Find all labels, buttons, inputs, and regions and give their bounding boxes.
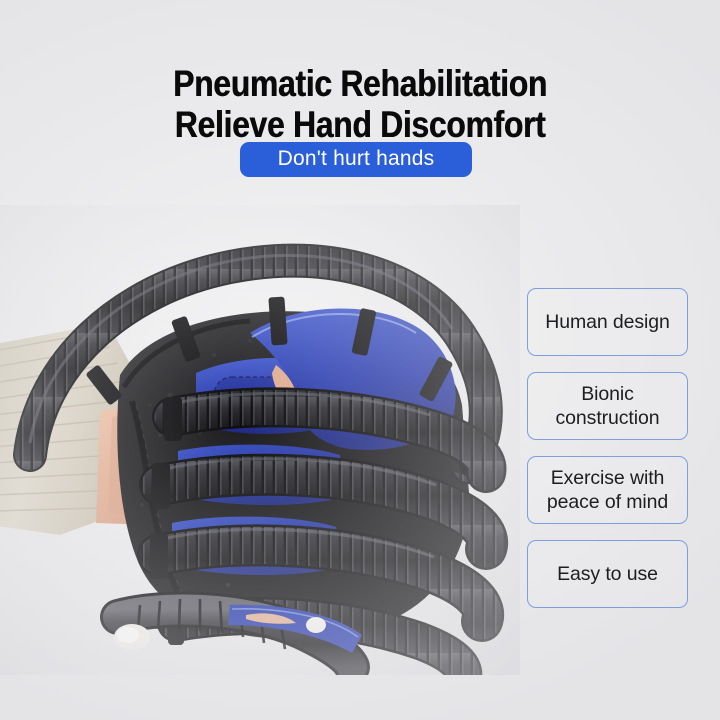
headline-line-1: Pneumatic Rehabilitation [173, 63, 547, 104]
tagline-badge: Don't hurt hands [240, 142, 472, 177]
feature-card-exercise-peace-of-mind[interactable]: Exercise with peace of mind [527, 456, 688, 524]
feature-card-human-design[interactable]: Human design [527, 288, 688, 356]
feature-card-label: Exercise with peace of mind [528, 466, 687, 514]
tagline-badge-label: Don't hurt hands [278, 147, 435, 171]
feature-card-list: Human design Bionic construction Exercis… [527, 288, 688, 608]
feature-card-label: Human design [541, 310, 674, 334]
feature-card-label: Easy to use [553, 562, 662, 586]
product-image [0, 205, 520, 675]
feature-card-easy-to-use[interactable]: Easy to use [527, 540, 688, 608]
page-title: Pneumatic Rehabilitation Relieve Hand Di… [50, 65, 669, 144]
feature-card-label: Bionic construction [528, 382, 687, 430]
headline-line-2: Relieve Hand Discomfort [50, 106, 669, 144]
feature-card-bionic-construction[interactable]: Bionic construction [527, 372, 688, 440]
product-banner: Pneumatic Rehabilitation Relieve Hand Di… [0, 0, 720, 720]
